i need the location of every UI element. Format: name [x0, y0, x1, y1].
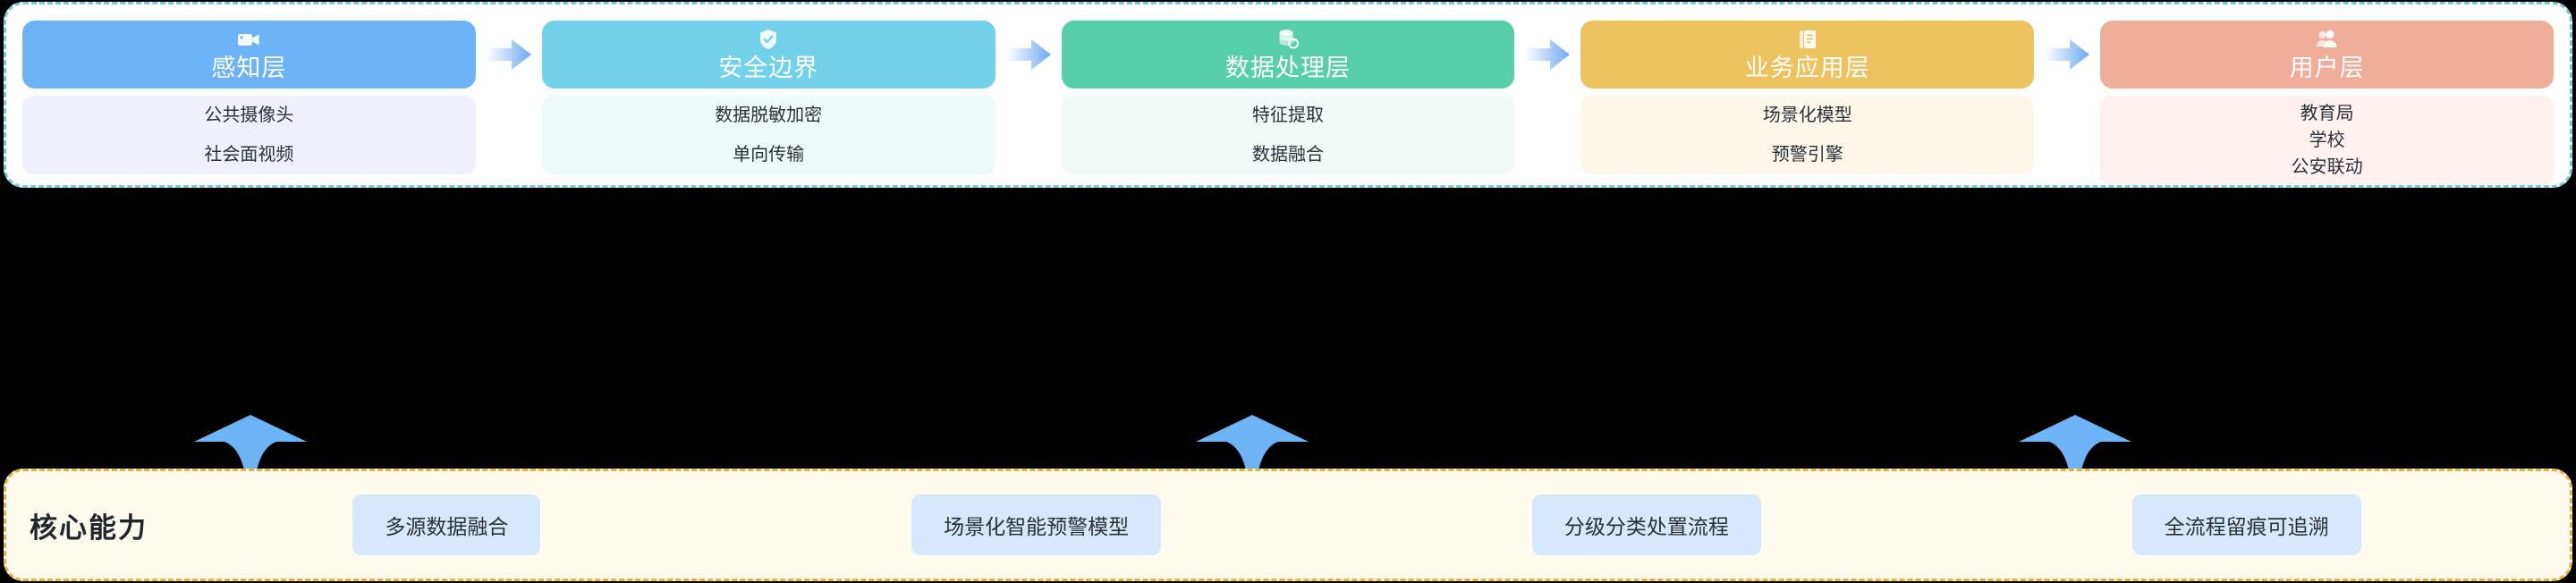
- architecture-layers-panel: 感知层 公共摄像头 社会面视频: [4, 2, 2572, 188]
- layer-details-user: 教育局 学校 公安联动: [2100, 96, 2554, 185]
- detail-line: 公安联动: [2292, 158, 2363, 176]
- layer-title: 用户层: [2290, 56, 2365, 80]
- flow-arrow-right-icon: [1514, 21, 1580, 89]
- layer-details-security-boundary: 数据脱敏加密 单向传输: [542, 96, 996, 174]
- layer-details-data-processing: 特征提取 数据融合: [1062, 96, 1515, 174]
- video-camera-icon: [235, 28, 262, 51]
- layer-title: 数据处理层: [1225, 56, 1351, 80]
- database-sync-icon: [1275, 28, 1301, 51]
- detail-line: 教育局: [2301, 105, 2354, 123]
- core-capabilities-panel: 核心能力 多源数据融合 场景化智能预警模型 分级分类处置流程 全流程留痕可追溯: [4, 469, 2572, 581]
- capability-chip[interactable]: 多源数据融合: [352, 494, 540, 555]
- layer-card-user[interactable]: 用户层: [2100, 21, 2554, 89]
- capability-chip[interactable]: 场景化智能预警模型: [911, 494, 1161, 555]
- support-connectors: [0, 188, 2576, 470]
- detail-line: 场景化模型: [1763, 106, 1852, 124]
- report-document-icon: [1794, 28, 1821, 51]
- diagram-root: 感知层 公共摄像头 社会面视频: [0, 0, 2576, 583]
- layer-title: 安全边界: [718, 56, 818, 80]
- layer-card-business-application[interactable]: 业务应用层: [1580, 21, 2034, 89]
- flow-arrow-right-icon: [476, 21, 542, 89]
- capability-chip[interactable]: 全流程留痕可追溯: [2132, 494, 2361, 555]
- detail-line: 学校: [2309, 131, 2345, 149]
- detail-line: 特征提取: [1252, 106, 1324, 124]
- capability-chip-list: 多源数据融合 场景化智能预警模型 分级分类处置流程 全流程留痕可追溯: [167, 494, 2546, 555]
- layer-column-security-boundary: 安全边界 数据脱敏加密 单向传输: [542, 21, 996, 174]
- layer-details-business-application: 场景化模型 预警引擎: [1580, 96, 2034, 174]
- shield-check-icon: [755, 28, 782, 51]
- layer-card-security-boundary[interactable]: 安全边界: [542, 21, 996, 89]
- flow-arrow-right-icon: [2034, 21, 2100, 89]
- detail-line: 数据脱敏加密: [715, 106, 822, 124]
- core-capabilities-label: 核心能力: [30, 505, 148, 545]
- arrow-up-icon: [157, 415, 344, 470]
- layer-details-perception: 公共摄像头 社会面视频: [22, 96, 476, 174]
- detail-line: 社会面视频: [204, 146, 293, 164]
- layer-card-perception[interactable]: 感知层: [22, 21, 476, 89]
- users-group-icon: [2314, 28, 2341, 51]
- layer-card-data-processing[interactable]: 数据处理层: [1062, 21, 1515, 89]
- arrow-up-icon: [1158, 415, 1346, 470]
- layer-column-business-application: 业务应用层 场景化模型 预警引擎: [1580, 21, 2034, 174]
- layer-column-perception: 感知层 公共摄像头 社会面视频: [22, 21, 476, 174]
- detail-line: 公共摄像头: [204, 106, 293, 124]
- layer-title: 业务应用层: [1745, 56, 1870, 80]
- detail-line: 单向传输: [733, 146, 804, 164]
- layer-column-user: 用户层 教育局 学校 公安联动: [2100, 21, 2554, 185]
- detail-line: 预警引擎: [1772, 146, 1843, 164]
- flow-arrow-right-icon: [996, 21, 1062, 89]
- arrow-up-icon: [1981, 415, 2169, 470]
- layer-title: 感知层: [211, 56, 286, 80]
- layer-column-data-processing: 数据处理层 特征提取 数据融合: [1062, 21, 1515, 174]
- capability-chip[interactable]: 分级分类处置流程: [1532, 494, 1761, 555]
- layer-flow: 感知层 公共摄像头 社会面视频: [22, 21, 2554, 185]
- detail-line: 数据融合: [1252, 146, 1324, 164]
